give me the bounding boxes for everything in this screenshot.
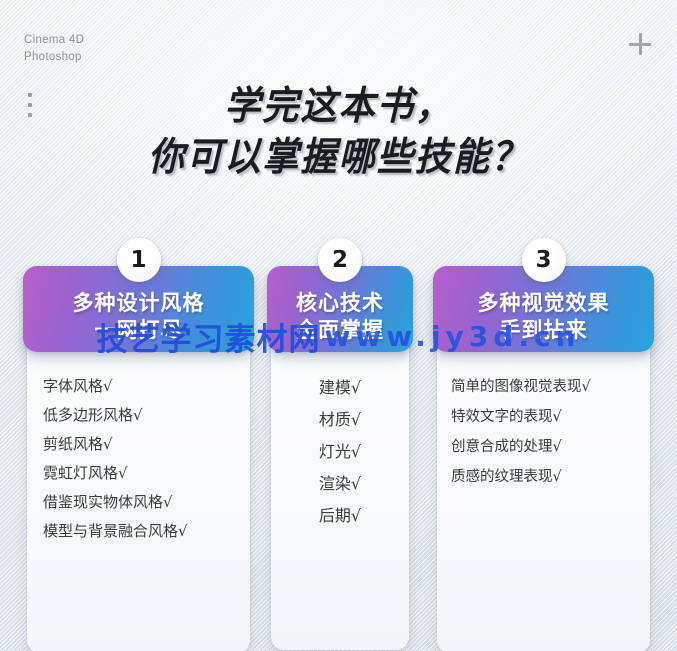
list-item: 低多边形风格√ (43, 401, 250, 430)
list-item: 材质√ (271, 404, 409, 436)
card-title-line-2: 手到拈来 (433, 317, 654, 344)
card-number-badge-1: 1 (117, 238, 161, 282)
card-title-line-1: 多种设计风格 (23, 290, 254, 317)
card-list-3: 简单的图像视觉表现√ 特效文字的表现√ 创意合成的处理√ 质感的纹理表现√ (437, 372, 650, 492)
list-item: 借鉴现实物体风格√ (43, 488, 250, 517)
list-item: 特效文字的表现√ (451, 402, 650, 432)
card-body-3: 简单的图像视觉表现√ 特效文字的表现√ 创意合成的处理√ 质感的纹理表现√ (437, 320, 650, 651)
list-item: 渲染√ (271, 468, 409, 500)
card-title-line-1: 多种视觉效果 (433, 290, 654, 317)
software-label-cinema4d: Cinema 4D (24, 32, 84, 49)
list-item: 简单的图像视觉表现√ (451, 372, 650, 402)
card-number-3: 3 (535, 249, 551, 272)
card-title-line-2: 一网打尽 (23, 317, 254, 344)
headline-line-1: 学完这本书， (24, 82, 654, 132)
list-item: 建模√ (271, 372, 409, 404)
list-item: 霓虹灯风格√ (43, 459, 250, 488)
list-item: 质感的纹理表现√ (451, 462, 650, 492)
card-list-1: 字体风格√ 低多边形风格√ 剪纸风格√ 霓虹灯风格√ 借鉴现实物体风格√ 模型与… (27, 372, 250, 546)
plus-icon[interactable] (629, 33, 651, 55)
feature-card-row: 字体风格√ 低多边形风格√ 剪纸风格√ 霓虹灯风格√ 借鉴现实物体风格√ 模型与… (0, 252, 677, 622)
list-item: 模型与背景融合风格√ (43, 517, 250, 546)
list-item: 字体风格√ (43, 372, 250, 401)
card-title-line-1: 核心技术 (267, 290, 413, 317)
page-title: 学完这本书， 你可以掌握哪些技能？ (0, 82, 677, 184)
poster-canvas: Cinema 4D Photoshop 学完这本书， 你可以掌握哪些技能？ 字体… (0, 0, 677, 651)
software-label-photoshop: Photoshop (24, 49, 84, 66)
card-title-line-2: 全面掌握 (267, 317, 413, 344)
headline-line-2: 你可以掌握哪些技能？ (24, 132, 654, 184)
list-item: 灯光√ (271, 436, 409, 468)
card-number-badge-2: 2 (318, 238, 362, 282)
list-item: 后期√ (271, 500, 409, 532)
card-body-1: 字体风格√ 低多边形风格√ 剪纸风格√ 霓虹灯风格√ 借鉴现实物体风格√ 模型与… (27, 320, 250, 651)
card-number-2: 2 (332, 249, 348, 272)
software-labels: Cinema 4D Photoshop (24, 32, 84, 65)
card-number-1: 1 (130, 249, 146, 272)
list-item: 创意合成的处理√ (451, 432, 650, 462)
card-number-badge-3: 3 (522, 238, 566, 282)
list-item: 剪纸风格√ (43, 430, 250, 459)
card-list-2: 建模√ 材质√ 灯光√ 渲染√ 后期√ (271, 372, 409, 532)
card-body-2: 建模√ 材质√ 灯光√ 渲染√ 后期√ (271, 320, 409, 650)
